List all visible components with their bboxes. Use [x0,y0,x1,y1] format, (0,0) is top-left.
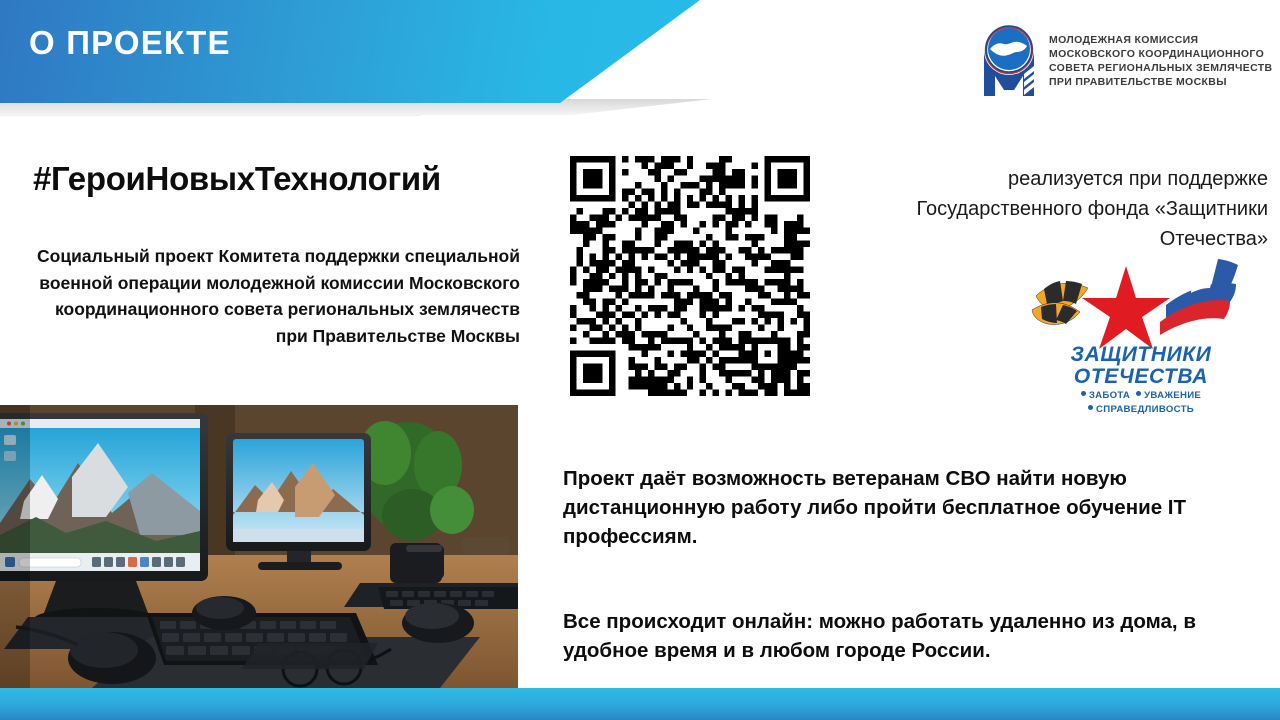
fund-tagline-row-2: СПРАВЕДЛИВОСТЬ [1022,403,1260,417]
bottom-accent-bar [0,688,1280,720]
fund-tagline-2: УВАЖЕНИЕ [1144,390,1201,401]
fund-title-line-2: ОТЕЧЕСТВА [1022,366,1260,388]
page-title: О ПРОЕКТЕ [29,24,231,62]
body-paragraph-1: Проект даёт возможность ветеранам СВО на… [563,464,1263,551]
bullet-dot-icon [1136,391,1141,396]
defenders-fund-logo: ЗАЩИТНИКИ ОТЕЧЕСТВА ЗАБОТА УВАЖЕНИЕ СПРА… [1022,258,1260,430]
fund-title-line-1: ЗАЩИТНИКИ [1022,344,1260,366]
header-logo-text: МОЛОДЕЖНАЯ КОМИССИЯ МОСКОВСКОГО КООРДИНА… [1049,34,1272,89]
bullet-dot-icon [1088,405,1093,410]
russian-flag-icon [1160,258,1244,335]
qr-code-image [570,156,810,396]
fund-tagline-1: ЗАБОТА [1089,390,1130,401]
header-logo-line-4: ПРИ ПРАВИТЕЛЬСТВЕ МОСКВЫ [1049,76,1272,89]
header-logo-line-3: СОВЕТА РЕГИОНАЛЬНЫХ ЗЕМЛЯЧЕСТВ [1049,62,1272,75]
fund-tagline-row-1: ЗАБОТА УВАЖЕНИЕ [1022,389,1260,403]
bullet-dot-icon [1081,391,1086,396]
red-star-icon [1082,266,1170,349]
workstation-photo [0,405,518,688]
fund-tagline-3: СПРАВЕДЛИВОСТЬ [1096,404,1194,415]
st-george-ribbon-icon [1032,281,1088,325]
support-statement: реализуется при поддержке Государственно… [860,164,1268,254]
mkscz-emblem-icon [978,22,1040,100]
fund-title: ЗАЩИТНИКИ ОТЕЧЕСТВА [1022,344,1260,388]
slide-canvas: О ПРОЕКТЕ МОЛОДЕЖНАЯ КОМИССИЯ МОСКОВСКОГ… [0,0,1280,720]
fund-tagline: ЗАБОТА УВАЖЕНИЕ СПРАВЕДЛИВОСТЬ [1022,389,1260,416]
body-paragraph-2: Все происходит онлайн: можно работать уд… [563,607,1263,665]
project-hashtag: #ГероиНовыхТехнологий [33,160,520,198]
qr-code[interactable] [570,156,810,396]
header-logo-line-1: МОЛОДЕЖНАЯ КОМИССИЯ [1049,34,1272,47]
header-logo: МОЛОДЕЖНАЯ КОМИССИЯ МОСКОВСКОГО КООРДИНА… [978,22,1272,100]
header-logo-line-2: МОСКОВСКОГО КООРДИНАЦИОННОГО [1049,48,1272,61]
defenders-fund-emblem-icon [1022,258,1260,353]
project-description: Социальный проект Комитета поддержки спе… [20,243,520,349]
